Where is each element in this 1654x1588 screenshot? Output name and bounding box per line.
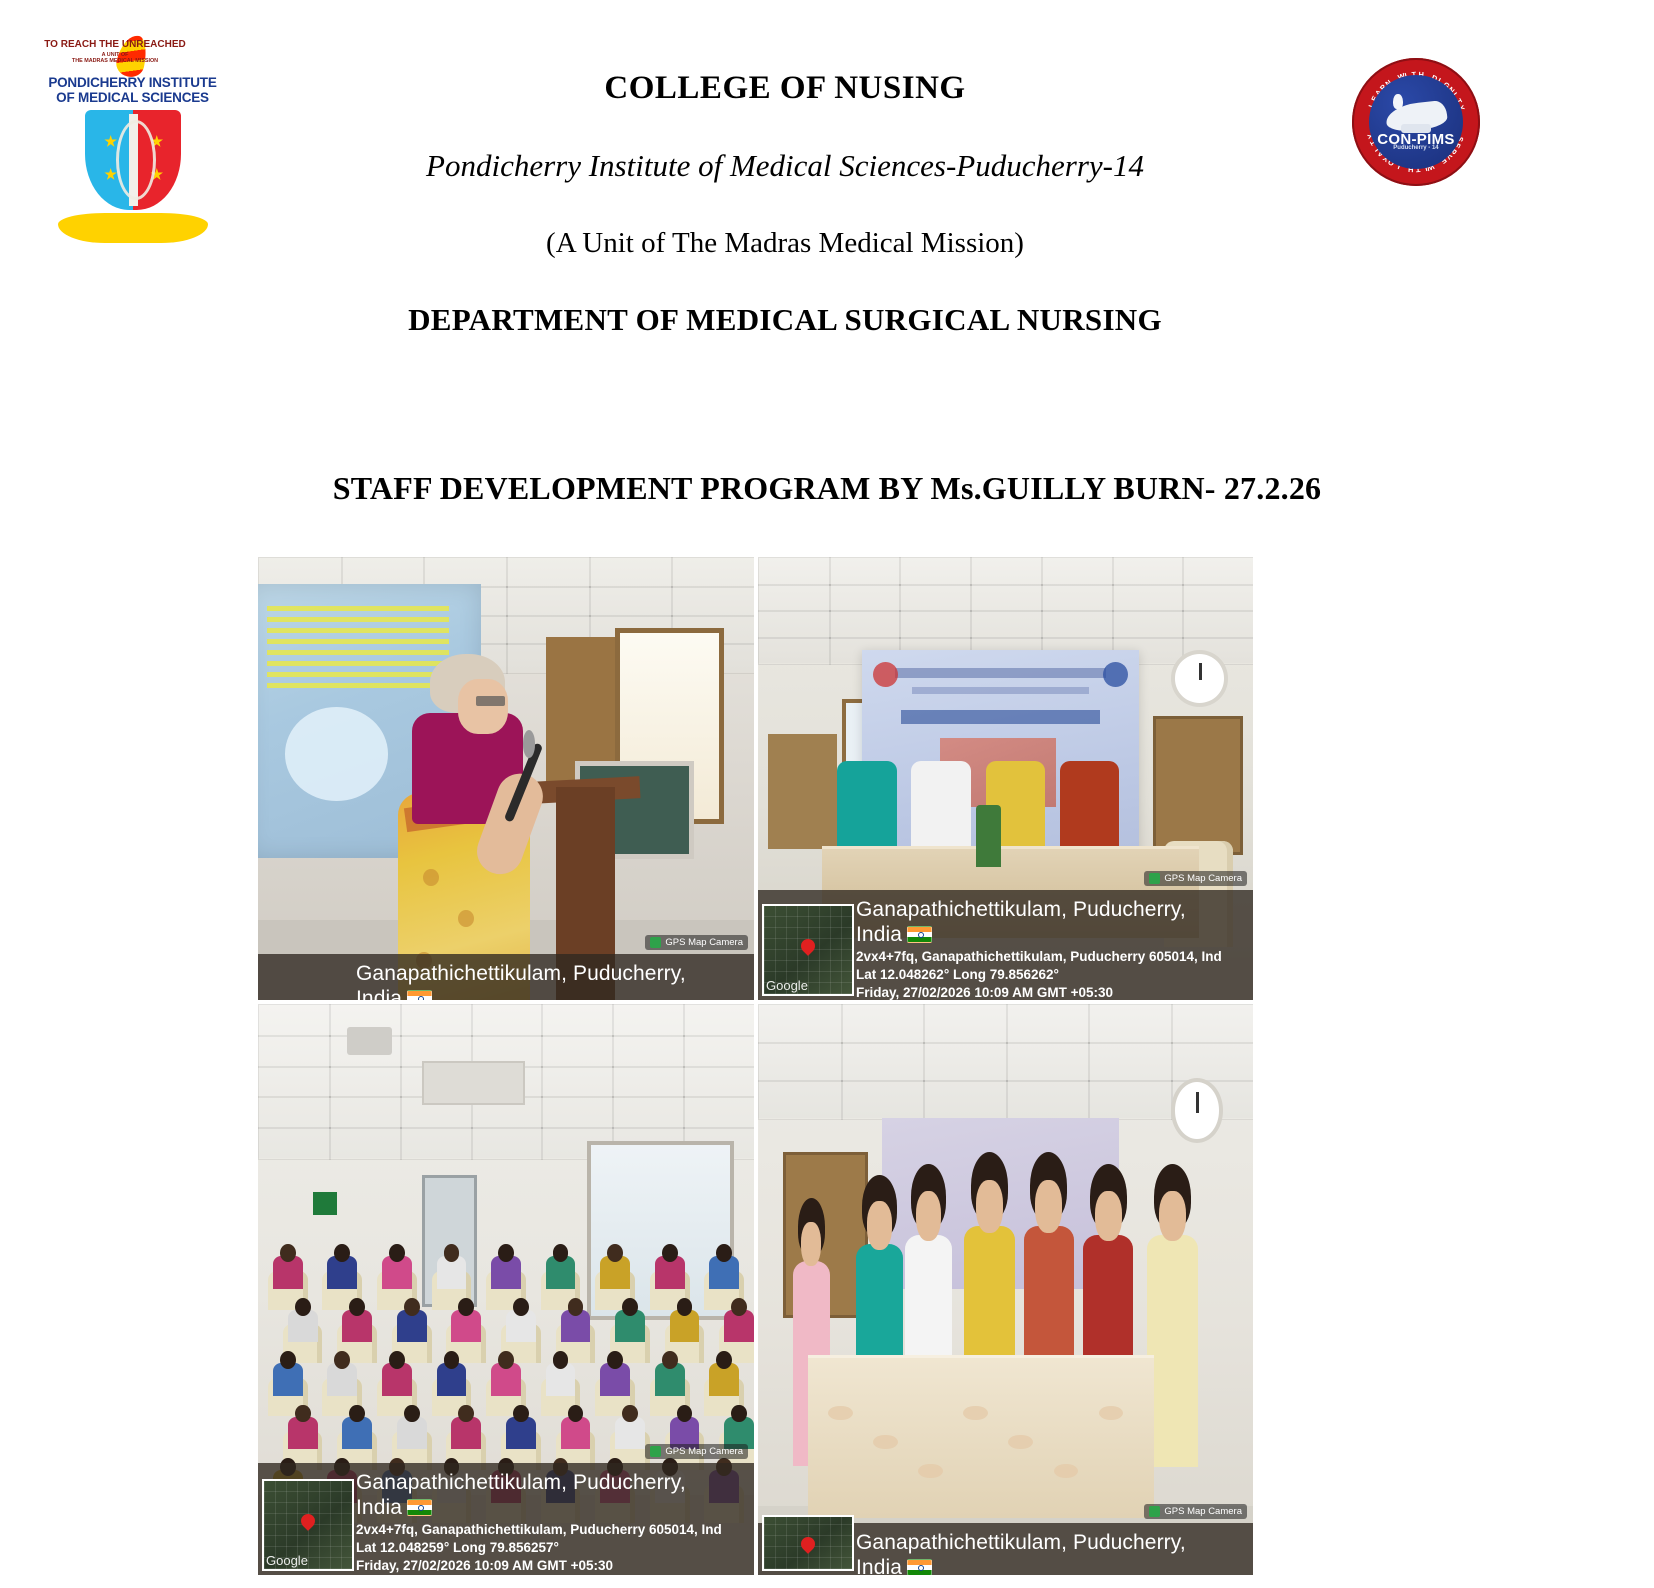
india-flag-icon: [407, 1499, 432, 1516]
gps-place-line2: India: [856, 923, 902, 946]
gps-address: 2vx4+7fq, Ganapathichettikulam, Puducher…: [856, 948, 1247, 966]
gps-map-camera-badge: GPS Map Camera: [645, 935, 748, 950]
pims-logo-text-line2: OF MEDICAL SCIENCES: [40, 90, 225, 105]
india-flag-icon: [407, 990, 432, 1004]
gps-place-line2: India: [356, 987, 402, 1004]
gps-place-line2: India: [856, 1556, 902, 1575]
department-name: DEPARTMENT OF MEDICAL SURGICAL NURSING: [230, 304, 1340, 335]
photo-image: [258, 557, 754, 1000]
document-page: PONDICHERRY INSTITUTE OF MEDICAL SCIENCE…: [0, 0, 1654, 1588]
unit-line: (A Unit of The Madras Medical Mission): [230, 229, 1340, 258]
photo-image: [758, 1004, 1253, 1575]
gps-place-line2: India: [356, 1496, 402, 1519]
gps-map-camera-badge: GPS Map Camera: [1144, 1504, 1247, 1519]
photo-dais-panel[interactable]: Google Ganapathichettikulam, Puducherry,…: [758, 557, 1253, 1004]
con-pims-logo: LEARN WITH DIGNITYSERVE WITH LOYALTY CON…: [1352, 58, 1480, 186]
google-attribution: Google: [266, 1553, 308, 1568]
gps-minimap: Google: [262, 1479, 354, 1571]
gps-badge-label: GPS Map Camera: [1164, 873, 1242, 884]
camera-icon: [650, 937, 661, 948]
gps-coordinates: Lat 12.048259° Long 79.856257°: [356, 1539, 748, 1557]
star-icon: [104, 135, 117, 148]
gps-timestamp: Friday, 27/02/2026 10:09 AM GMT +05:30: [356, 1557, 748, 1575]
gps-minimap: Google: [762, 904, 854, 996]
gps-minimap: [762, 1515, 854, 1571]
gps-place-line1: Ganapathichettikulam, Puducherry,: [856, 898, 1186, 921]
gps-badge-label: GPS Map Camera: [1164, 1506, 1242, 1517]
gps-timestamp: Friday, 27/02/2026 10:09 AM GMT +05:30: [856, 984, 1247, 1002]
camera-icon: [650, 1446, 661, 1457]
google-attribution: Google: [766, 978, 808, 993]
photo-group-dais[interactable]: Ganapathichettikulam, Puducherry, India …: [758, 1004, 1253, 1575]
star-icon: [104, 168, 117, 181]
pims-logo-text: PONDICHERRY INSTITUTE OF MEDICAL SCIENCE…: [40, 75, 225, 105]
gps-map-camera-badge: GPS Map Camera: [645, 1444, 748, 1459]
gps-address: 2vx4+7fq, Ganapathichettikulam, Puducher…: [356, 1521, 748, 1539]
motto-subtext-line2: THE MADRAS MEDICAL MISSION: [40, 58, 190, 64]
gps-badge-label: GPS Map Camera: [665, 937, 743, 948]
logo-inner-disc: CON-PIMS Puducherry - 14: [1369, 75, 1464, 170]
caduceus-snake-icon: [116, 120, 156, 200]
gps-badge-label: GPS Map Camera: [665, 1446, 743, 1457]
pims-logo-text-line1: PONDICHERRY INSTITUTE: [40, 75, 225, 90]
gps-place-line1: Ganapathichettikulam, Puducherry,: [856, 1531, 1186, 1554]
india-flag-icon: [907, 926, 932, 943]
photo-audience[interactable]: Google Ganapathichettikulam, Puducherry,…: [258, 1004, 758, 1575]
shield-icon: [85, 110, 181, 210]
photo-grid: Ganapathichettikulam, Puducherry, India …: [258, 557, 1253, 1575]
gps-map-camera-badge: GPS Map Camera: [1144, 871, 1247, 886]
header-titles: COLLEGE OF NUSING Pondicherry Institute …: [230, 0, 1340, 335]
page-title: STAFF DEVELOPMENT PROGRAM BY Ms.GUILLY B…: [0, 470, 1654, 507]
con-pims-sub: Puducherry - 14: [1369, 145, 1464, 151]
motto-subtext: A UNIT OF THE MADRAS MEDICAL MISSION: [40, 52, 190, 65]
college-name: COLLEGE OF NUSING: [230, 72, 1340, 105]
lamp-flame-icon: [1393, 94, 1402, 109]
photo-speaker-podium[interactable]: Ganapathichettikulam, Puducherry, India …: [258, 557, 758, 1004]
pims-logo: PONDICHERRY INSTITUTE OF MEDICAL SCIENCE…: [40, 35, 225, 240]
gps-place-line1: Ganapathichettikulam, Puducherry,: [356, 1471, 686, 1494]
camera-icon: [1149, 1506, 1160, 1517]
motto-text: TO REACH THE UNREACHED: [40, 39, 190, 50]
india-flag-icon: [907, 1559, 932, 1575]
camera-icon: [1149, 873, 1160, 884]
document-header: PONDICHERRY INSTITUTE OF MEDICAL SCIENCE…: [0, 0, 1654, 430]
motto-ribbon: [58, 213, 208, 243]
gps-coordinates: Lat 12.048262° Long 79.856262°: [856, 966, 1247, 984]
institute-name: Pondicherry Institute of Medical Science…: [230, 150, 1340, 181]
gps-place-line1: Ganapathichettikulam, Puducherry,: [356, 962, 686, 985]
